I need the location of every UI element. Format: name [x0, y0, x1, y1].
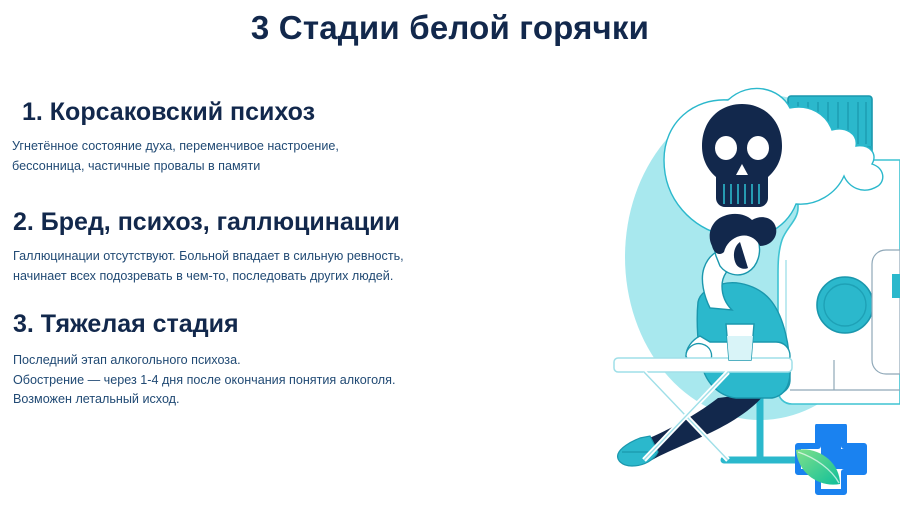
stage-2-heading: 2. Бред, психоз, галлюцинации [13, 206, 483, 238]
stage-3-body-line-3: Возможен летальный исход. [13, 390, 483, 410]
stage-1-body-line-2: бессонница, частичные провалы в памяти [12, 157, 492, 177]
side-panel [872, 250, 900, 374]
page-title: 3 Стадии белой горячки [0, 6, 900, 50]
stage-1-heading: 1. Корсаковский психоз [22, 96, 492, 128]
stage-1-body-line-1: Угнетённое состояние духа, переменчивое … [12, 137, 492, 157]
stage-2-body: Галлюцинации отсутствуют. Больной впадае… [13, 247, 483, 286]
stage-3-heading: 3. Тяжелая стадия [13, 308, 483, 340]
stage-3-body-line-2: Обострение — через 1-4 дня после окончан… [13, 371, 483, 391]
stage-section-1: 1. Корсаковский психоз Угнетённое состоя… [0, 96, 492, 176]
stage-1-body: Угнетённое состояние духа, переменчивое … [12, 137, 492, 176]
stage-section-2: 2. Бред, психоз, галлюцинации Галлюцинац… [0, 206, 483, 286]
slide-canvas: 3 Стадии белой горячки 1. Корсаковский п… [0, 0, 900, 506]
drinking-glass [726, 324, 754, 360]
stage-2-body-line-1: Галлюцинации отсутствуют. Больной впадае… [13, 247, 483, 267]
stage-3-body-line-1: Последний этап алкогольного психоза. [13, 351, 483, 371]
stage-section-3: 3. Тяжелая стадия Последний этап алкогол… [0, 308, 483, 410]
stage-3-body: Последний этап алкогольного психоза. Обо… [13, 351, 483, 410]
brand-logo [792, 424, 872, 500]
stage-2-body-line-2: начинает всех подозревать в чем-то, посл… [13, 267, 483, 287]
